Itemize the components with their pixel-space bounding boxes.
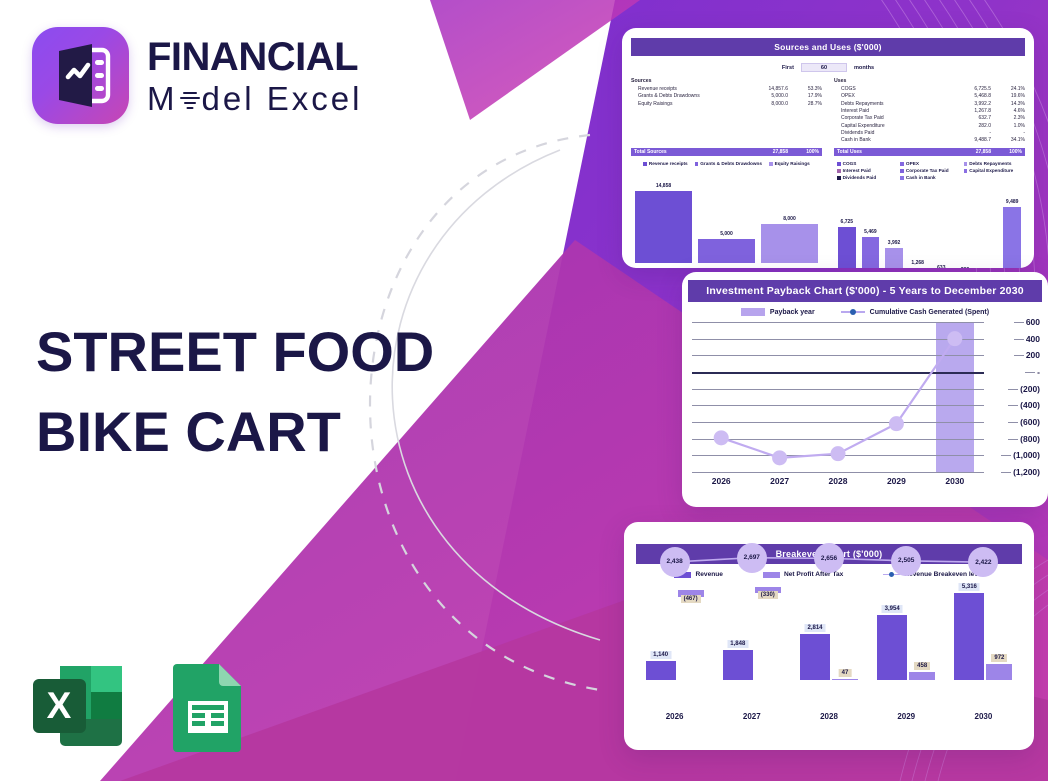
x-tick-label: 2030 [945,712,1022,721]
google-sheets-icon [171,660,245,757]
legend-item-payback-year: Payback year [741,308,815,316]
total-pct: 100% [991,149,1025,155]
legend-label: Cumulative Cash Generated (Spent) [870,309,989,316]
total-pct: 100% [788,149,822,155]
total-label: Total Sources [631,149,742,155]
bar [838,227,856,268]
total-label: Total Uses [834,149,945,155]
bar-item: 9,489 [1003,185,1021,268]
legend-entry: Grants & Debts Drawdowns [695,161,762,166]
microsoft-excel-icon: X [30,660,126,757]
bar-value-label: 5,000 [720,231,733,237]
legend-entry: Cash in Bank [900,175,935,180]
x-tick-label: 2028 [809,476,867,486]
legend-entry: Dividends Paid [837,175,876,180]
bar-item: 1,268 [909,185,927,268]
y-tick-label: (400) [1020,400,1040,410]
x-tick-label: 2029 [868,712,945,721]
brand-title-line1: FINANCIAL [147,37,362,77]
row-value: 6,725.5 [945,86,991,92]
legend-item-cumulative-cash: Cumulative Cash Generated (Spent) [841,309,989,316]
breakeven-point-label: 2,438 [660,547,690,577]
row-label: Capital Expenditure [834,123,945,129]
poster-canvas: FINANCIAL M del Excel STREET FOOD BIKE C… [0,0,1048,781]
row-label: Revenue receipts [631,86,742,92]
uses-bars: 6,7255,4693,9921,26863328209,489 [834,185,1025,268]
legend-swatch-line-icon [883,574,900,576]
row-label: Grants & Debts Drawdowns [631,93,742,99]
bar-item: 5,000 [698,171,755,263]
row-pct: 28.7% [788,101,822,107]
payback-x-axis: 20262027202820292030 [688,476,1042,486]
legend-entry: Revenue receipts [643,161,687,166]
bar-item: 633 [933,185,951,268]
total-value: 27,858 [945,149,991,155]
bar-item: 282 [956,185,974,268]
bar-value-label: 5,469 [864,229,877,235]
months-label: months [854,65,874,71]
x-tick-label: 2029 [867,476,925,486]
x-tick-label: 2027 [750,476,808,486]
row-label: Cash in Bank [834,137,945,143]
legend-entry: Equity Raisings [769,161,810,166]
brand-title-line2: M del Excel [147,82,362,115]
y-tick-label: 400 [1026,334,1040,344]
row-value: 3,992.2 [945,101,991,107]
row-value: 282.0 [945,123,991,129]
row-pct: 34.1% [991,137,1025,143]
x-tick-label: 2028 [790,712,867,721]
row-label: Dividends Paid [834,130,945,136]
y-tick-label: (600) [1020,417,1040,427]
table-row: Interest Paid 1,267.8 4.6% [834,107,1025,114]
y-tick-label: (1,000) [1013,450,1040,460]
legend-swatch-line-icon [841,311,865,313]
sources-bar-chart: Revenue receiptsGrants & Debts Drawdowns… [631,161,822,268]
payback-legend: Payback year Cumulative Cash Generated (… [688,308,1042,316]
table-row: Dividends Paid - - [834,129,1025,136]
row-pct: 19.6% [991,93,1025,99]
bar-item: 6,725 [838,185,856,268]
x-tick-label: 2027 [713,712,790,721]
y-tick-label: (800) [1020,434,1040,444]
sources-chart-legend: Revenue receiptsGrants & Debts Drawdowns… [631,161,822,166]
payback-y-axis: 600400200-(200)(400)(600)(800)(1,000)(1,… [984,322,1040,472]
legend-entry: Debts Repayments [964,161,1012,166]
table-row: COGS 6,725.5 24.1% [834,86,1025,93]
bar-item: 5,469 [862,185,880,268]
legend-label: Payback year [770,309,815,316]
brand-line2-prefix: M [147,82,178,115]
legend-entry: OPEX [900,161,919,166]
row-label: Corporate Tax Paid [834,115,945,121]
uses-bar-chart: COGSOPEXDebts RepaymentsInterest PaidCor… [834,161,1025,268]
breakeven-point-label: 2,422 [968,547,998,577]
breakeven-line-series [636,582,1022,700]
row-value: 8,000.0 [742,101,788,107]
sources-heading: Sources [631,78,822,84]
row-pct: - [991,130,1025,136]
table-row: Cash in Bank 9,488.7 34.1% [834,137,1025,144]
page-title-line2: BIKE CART [36,392,434,472]
row-label: COGS [834,86,945,92]
x-tick-label: 2026 [636,712,713,721]
legend-swatch-npat-icon [763,572,780,578]
bar-value-label: 14,858 [656,183,671,189]
y-tick-label: (1,200) [1013,467,1040,477]
row-pct: 14.3% [991,101,1025,107]
legend-label: Revenue [695,571,723,578]
bar-item: 0 [980,185,998,268]
first-label: First [782,65,794,71]
brand-lockup: FINANCIAL M del Excel [32,27,362,124]
row-pct: 1.0% [991,123,1025,129]
row-pct: 2.3% [991,115,1025,121]
legend-entry: Interest Paid [837,168,871,173]
brand-line2-suffix: del Excel [202,82,363,115]
file-format-icons: X [30,660,245,757]
bar-item: 14,858 [635,171,692,263]
row-label: Debts Repayments [834,101,945,107]
bar [862,237,880,268]
row-value: 1,267.8 [945,108,991,114]
row-value: 5,468.8 [945,93,991,99]
page-title: STREET FOOD BIKE CART [36,312,434,471]
row-pct: 17.9% [788,93,822,99]
table-row: Grants & Debts Drawdowns 5,000.0 17.9% [631,93,822,100]
row-value: 9,488.7 [945,137,991,143]
bar-item: 8,000 [761,171,818,263]
uses-chart-legend: COGSOPEXDebts RepaymentsInterest PaidCor… [834,161,1025,180]
investment-payback-card[interactable]: Investment Payback Chart ($'000) - 5 Yea… [682,272,1048,507]
row-value: 5,000.0 [742,93,788,99]
table-row: Corporate Tax Paid 632.7 2.3% [834,115,1025,122]
row-label: OPEX [834,93,945,99]
table-row: Debts Repayments 3,992.2 14.3% [834,100,1025,107]
sources-total-row: Total Sources 27,858 100% [631,148,822,157]
bar-value-label: 8,000 [783,216,796,222]
uses-heading: Uses [834,78,1025,84]
row-value: - [945,130,991,136]
row-value: 14,857.6 [742,86,788,92]
table-row: Revenue receipts 14,857.6 53.3% [631,86,822,93]
payback-line-series [692,322,984,472]
sources-uses-tables: Sources Revenue receipts 14,857.6 53.3% … [631,78,1025,156]
uses-table: Uses COGS 6,725.5 24.1% OPEX 5,468.8 19.… [834,78,1025,156]
bar-value-label: 282 [961,267,969,268]
row-pct: 24.1% [991,86,1025,92]
y-tick-label: (200) [1020,384,1040,394]
months-input[interactable]: 60 [801,63,847,72]
bar-value-label: 633 [937,265,945,268]
legend-entry: Capital Expenditure [964,168,1014,173]
table-row: Capital Expenditure 282.0 1.0% [834,122,1025,129]
uses-total-row: Total Uses 27,858 100% [834,148,1025,157]
x-tick-label: 2030 [926,476,984,486]
breakeven-point-label: 2,505 [891,546,921,576]
bar [1003,207,1021,268]
bar-item: 3,992 [885,185,903,268]
breakeven-point-label: 2,697 [737,543,767,573]
table-row: Equity Raisings 8,000.0 28.7% [631,100,822,107]
left-content-column: FINANCIAL M del Excel STREET FOOD BIKE C… [0,0,520,781]
brand-text: FINANCIAL M del Excel [147,37,362,115]
bar-value-label: 6,725 [841,219,854,225]
row-label: Equity Raisings [631,101,742,107]
bar [698,239,755,263]
legend-swatch-bar-icon [741,308,765,316]
row-label: Interest Paid [834,108,945,114]
y-tick-label: - [1037,367,1040,377]
breakeven-x-axis: 20262027202820292030 [636,712,1022,721]
y-tick-label: 600 [1026,317,1040,327]
bar-value-label: 3,992 [888,240,901,246]
x-tick-label: 2026 [692,476,750,486]
sources-and-uses-card[interactable]: Sources and Uses ($'000) First 60 months… [622,28,1034,268]
total-value: 27,858 [742,149,788,155]
row-pct: 53.3% [788,86,822,92]
payback-plot: 600400200-(200)(400)(600)(800)(1,000)(1,… [688,322,1042,472]
payback-title: Investment Payback Chart ($'000) - 5 Yea… [688,280,1042,302]
bar-value-label: 1,268 [911,260,924,266]
financial-model-app-icon [32,27,129,124]
sources-uses-charts: Revenue receiptsGrants & Debts Drawdowns… [631,161,1025,268]
legend-entry: COGS [837,161,856,166]
page-title-line1: STREET FOOD [36,312,434,392]
bar [761,224,818,263]
svg-text:X: X [47,685,72,726]
bar-value-label: 9,489 [1006,199,1019,205]
sources-bars: 14,8585,0008,000 [631,171,822,263]
bar [885,248,903,268]
breakeven-point-label: 2,656 [814,543,844,573]
legend-entry: Corporate Tax Paid [900,168,948,173]
breakeven-card[interactable]: Breakeven Chart ($'000) Revenue Net Prof… [624,522,1034,750]
table-row: OPEX 5,468.8 19.6% [834,93,1025,100]
sources-table: Sources Revenue receipts 14,857.6 53.3% … [631,78,822,156]
row-value: 632.7 [945,115,991,121]
gridline [692,472,984,473]
y-tick-label: 200 [1026,350,1040,360]
bar [635,191,692,263]
first-months-control[interactable]: First 60 months [631,63,1025,72]
sources-uses-title: Sources and Uses ($'000) [631,38,1025,56]
breakeven-plot: 1,140(467)1,848(330)2,814473,9544585,316… [636,582,1022,700]
row-pct: 4.6% [991,108,1025,114]
brand-o-glyph-icon [179,85,201,111]
